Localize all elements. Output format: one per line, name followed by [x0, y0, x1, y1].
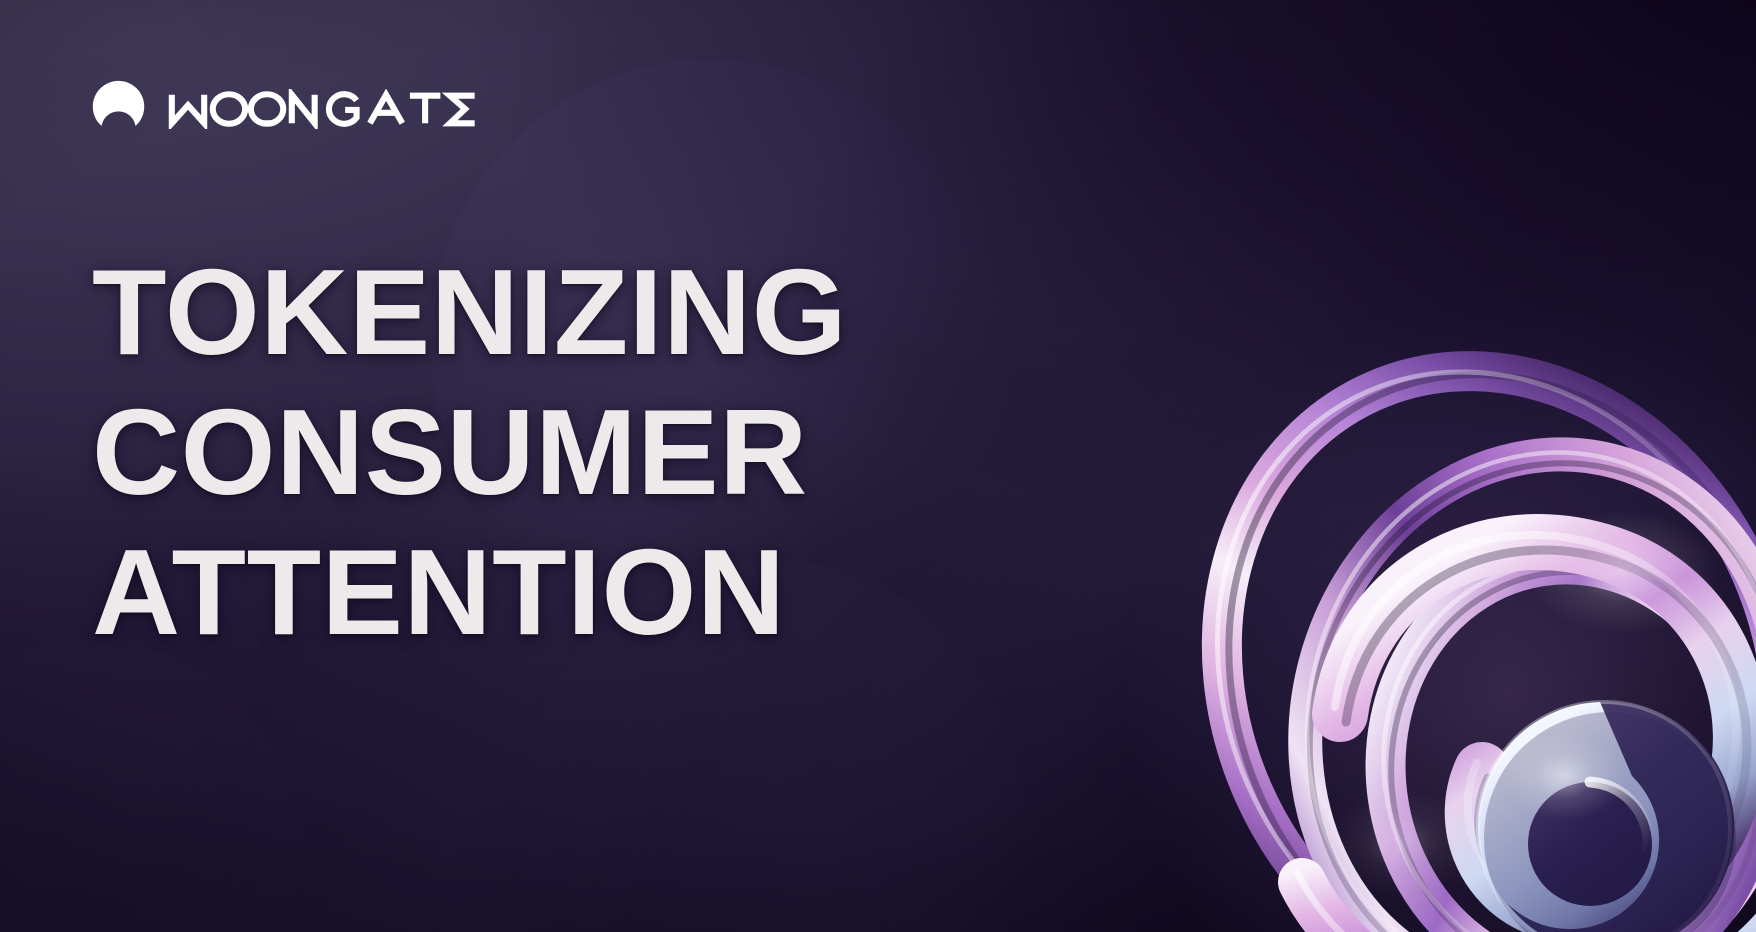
headline-line-3: ATTENTION [92, 522, 847, 662]
hero-banner: TOKENIZING CONSUMER ATTENTION [0, 0, 1756, 932]
crescent-moon-circle-icon [88, 78, 149, 139]
brand-logo[interactable] [88, 78, 482, 139]
page-title: TOKENIZING CONSUMER ATTENTION [92, 242, 847, 662]
headline-line-2: CONSUMER [92, 382, 847, 522]
headline-line-1: TOKENIZING [92, 242, 847, 382]
brand-wordmark [168, 89, 482, 129]
